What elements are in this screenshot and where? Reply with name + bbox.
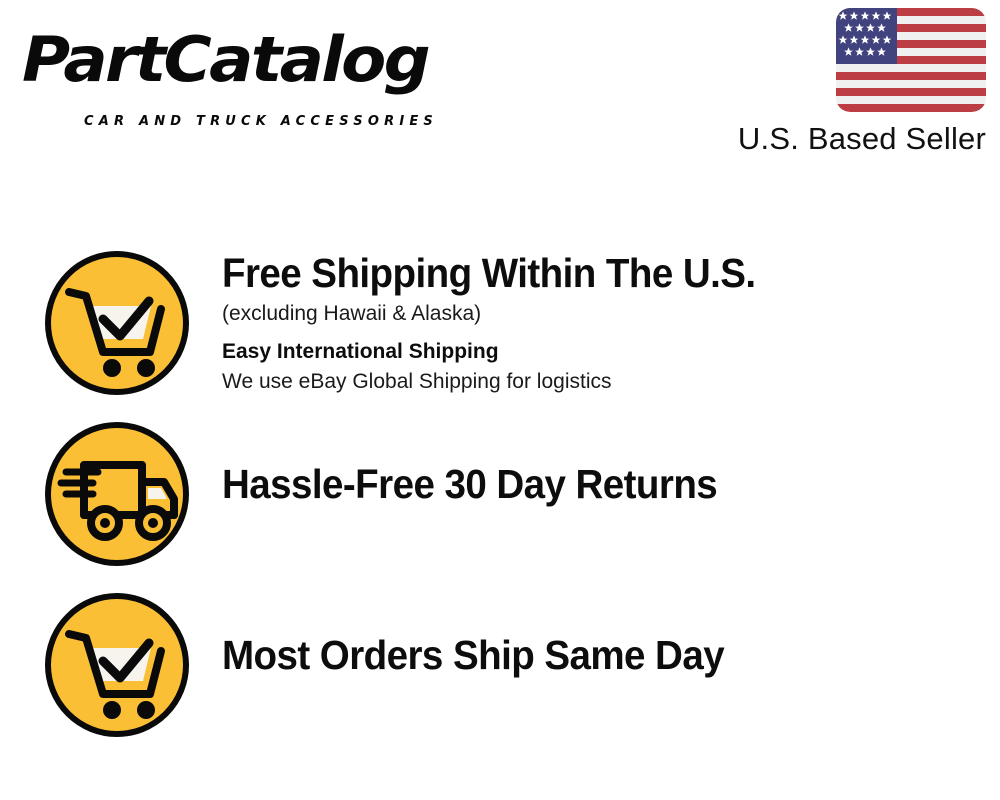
feature-note: (excluding Hawaii & Alaska) bbox=[222, 299, 1000, 329]
brand-tagline: CAR AND TRUCK ACCESSORIES bbox=[84, 114, 438, 129]
feature-title: Free Shipping Within The U.S. bbox=[222, 249, 953, 297]
feature-text-block: Hassle-Free 30 Day Returns bbox=[222, 420, 1000, 508]
shopping-cart-check-icon bbox=[43, 591, 191, 739]
feature-title: Hassle-Free 30 Day Returns bbox=[222, 460, 953, 508]
feature-subtitle: We use eBay Global Shipping for logistic… bbox=[222, 367, 1000, 397]
banner-header: PartCatalog CAR AND TRUCK ACCESSORIES bbox=[0, 0, 1000, 170]
feature-text-block: Free Shipping Within The U.S. (excluding… bbox=[222, 249, 1000, 397]
feature-subtitle-bold: Easy International Shipping bbox=[222, 337, 1000, 367]
us-based-seller-label: U.S. Based Seller bbox=[716, 121, 986, 157]
shipping-info-banner: PartCatalog CAR AND TRUCK ACCESSORIES bbox=[0, 0, 1000, 800]
shopping-cart-check-icon bbox=[43, 249, 191, 397]
partcatalog-logo: PartCatalog CAR AND TRUCK ACCESSORIES bbox=[22, 26, 492, 116]
feature-row: Free Shipping Within The U.S. (excluding… bbox=[0, 249, 1000, 419]
feature-row: Hassle-Free 30 Day Returns bbox=[0, 420, 1000, 590]
us-based-seller-badge: U.S. Based Seller bbox=[716, 8, 986, 157]
us-flag-icon bbox=[836, 8, 986, 112]
delivery-truck-icon bbox=[43, 420, 191, 568]
feature-text-block: Most Orders Ship Same Day bbox=[222, 591, 1000, 679]
feature-title: Most Orders Ship Same Day bbox=[222, 631, 953, 679]
brand-wordmark: PartCatalog bbox=[22, 26, 428, 94]
feature-row: Most Orders Ship Same Day bbox=[0, 591, 1000, 761]
